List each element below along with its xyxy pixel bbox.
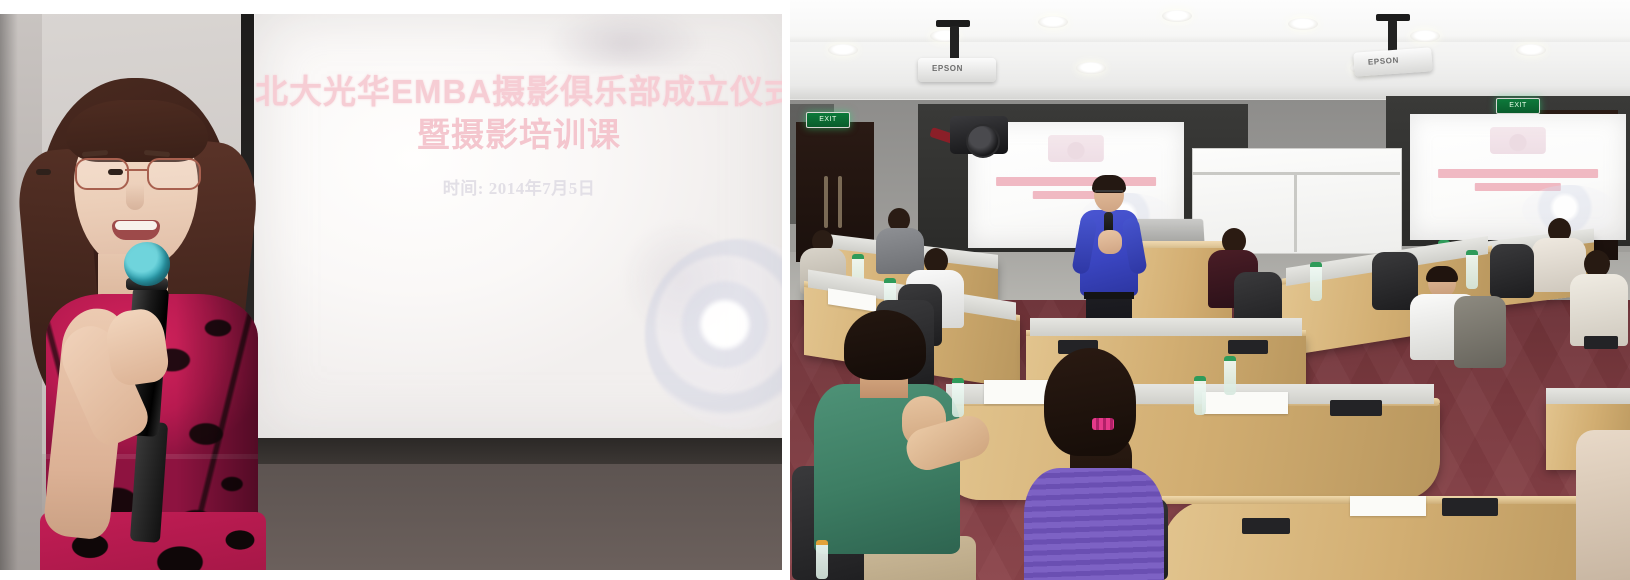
ceiling-downlight [828, 44, 858, 56]
door-handle-left [838, 176, 842, 228]
slide-camera-icon [1490, 127, 1546, 155]
hair-clip [1092, 418, 1114, 430]
projector-brand-label: EPSON [932, 64, 963, 73]
presenter-hands [1098, 230, 1122, 254]
water-bottle [816, 540, 828, 579]
photo-left-speaker[interactable]: 北大光华EMBA摄影俱乐部成立仪式 暨摄影培训课 时间: 2014年7月5日 [0, 14, 782, 570]
photo-right-lecture-hall[interactable]: EPSON EPSON EXIT EXIT [790, 0, 1630, 580]
exit-sign-right: EXIT [1496, 98, 1540, 114]
paper-handout [1202, 392, 1288, 414]
desk-top-center-front [1030, 318, 1302, 336]
door-handle-left [824, 176, 828, 228]
speaker-eye-left [36, 169, 51, 175]
ceiling-downlight [1288, 18, 1318, 30]
attendee-hair [1426, 266, 1458, 282]
eyeglass-lens-right [147, 158, 201, 190]
desk-front-curved [940, 404, 1440, 500]
lecture-hall-scene: EPSON EPSON EXIT EXIT [790, 0, 1630, 580]
projection-screen-right [1410, 114, 1626, 240]
attendee-hair [1044, 348, 1136, 456]
desk-av-port [1228, 340, 1268, 354]
lower-wall-shadow [255, 464, 782, 570]
attendee-far-right-phone [1570, 250, 1630, 350]
projector-brand-label: EPSON [1368, 56, 1400, 67]
speaker-nose [126, 184, 144, 210]
exit-sign-left: EXIT [806, 112, 850, 128]
attendee-near-right [1576, 430, 1630, 580]
water-bottle [952, 378, 964, 417]
ceiling-downlight [1162, 10, 1192, 22]
screen-smudge [545, 14, 705, 68]
screen-bottom-frame [255, 438, 782, 464]
presenter-eyeglasses-icon [1095, 190, 1123, 199]
speaker-mouth [112, 220, 160, 240]
eyeglass-bridge [125, 169, 147, 171]
ceiling-beam-upper [790, 36, 1630, 42]
attendee-body [1576, 430, 1630, 580]
projector-mount [950, 26, 959, 60]
mobile-phone [1584, 336, 1618, 349]
ceiling-downlight [1410, 30, 1440, 42]
tablet-device [1330, 400, 1382, 416]
speaker-figure [16, 72, 296, 570]
speaker-eye-right [108, 169, 123, 175]
photo-divider-gap [782, 0, 790, 580]
tablet-device [1442, 498, 1498, 516]
presenter-belt [1084, 292, 1134, 299]
attendee-hair [844, 310, 926, 380]
water-bottle [1224, 356, 1236, 395]
ceiling-downlight [1038, 16, 1068, 28]
slide-camera-icon [1048, 135, 1104, 163]
desk-top-near-right [1546, 388, 1630, 404]
slide-title-bar-1 [1438, 169, 1598, 178]
epson-projector-left: EPSON [918, 58, 996, 82]
chair-right-front [1454, 296, 1506, 368]
ceiling-downlight [1076, 62, 1106, 74]
desk-av-port [1242, 518, 1290, 534]
ceiling-downlight [1516, 44, 1546, 56]
dslr-camera-lens-icon [966, 124, 1000, 158]
whiteboard-divider [1294, 172, 1297, 252]
photo-gallery: 北大光华EMBA摄影俱乐部成立仪式 暨摄影培训课 时间: 2014年7月5日 [0, 0, 1630, 580]
microphone-head-icon [124, 242, 170, 286]
paper-handout [1350, 496, 1426, 516]
water-bottle [1194, 376, 1206, 415]
speaker-teeth [115, 221, 157, 230]
chair-far-right [1490, 244, 1534, 298]
attendee-purple-shirt [1024, 468, 1164, 580]
water-bottle [1310, 262, 1322, 301]
attendee-purple-striped-top [1018, 348, 1168, 580]
photo-left-vignette [0, 14, 18, 570]
